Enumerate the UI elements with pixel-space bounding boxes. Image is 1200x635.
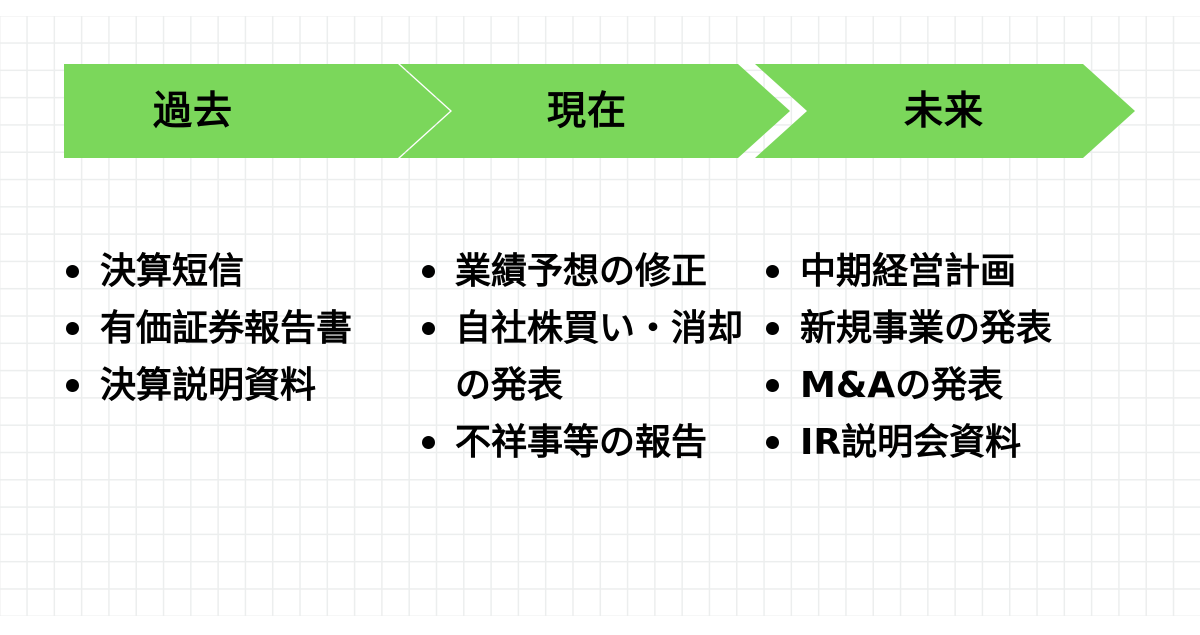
bullet-dot-icon <box>422 436 435 449</box>
list-item: IR説明会資料 <box>760 414 1120 471</box>
timeline-stage-future-label: 未来 <box>904 92 984 131</box>
list-item-label: IR説明会資料 <box>800 422 1021 463</box>
list-item-label: 業績予想の修正 <box>455 251 707 292</box>
timeline-chevron-row: 過去 現在 未来 <box>0 0 1200 230</box>
bullet-dot-icon <box>422 265 435 278</box>
column-past: 決算短信 有価証券報告書 決算説明資料 <box>60 243 412 414</box>
list-item: 業績予想の修正 <box>416 243 756 300</box>
timeline-stage-present-label: 現在 <box>547 92 627 131</box>
bullet-dot-icon <box>766 265 779 278</box>
list-item-label: M&Aの発表 <box>800 365 1003 406</box>
list-item-label: 新規事業の発表 <box>800 308 1052 349</box>
timeline-stage-past[interactable]: 過去 <box>64 64 450 158</box>
list-item: 中期経営計画 <box>760 243 1120 300</box>
bullet-dot-icon <box>766 322 779 335</box>
timeline-stage-past-label: 過去 <box>153 92 233 131</box>
list-item-label: 中期経営計画 <box>800 251 1016 292</box>
list-item: 有価証券報告書 <box>60 300 412 357</box>
list-item: 決算短信 <box>60 243 412 300</box>
bullet-dot-icon <box>66 265 79 278</box>
bullet-dot-icon <box>66 322 79 335</box>
list-item-label: 有価証券報告書 <box>100 308 352 349</box>
bullet-dot-icon <box>766 436 779 449</box>
list-item-label: 自社株買い・消却の発表 <box>455 308 743 406</box>
bullet-list-present: 業績予想の修正 自社株買い・消却の発表 不祥事等の報告 <box>416 243 756 471</box>
list-item: 不祥事等の報告 <box>416 414 756 471</box>
bullet-dot-icon <box>66 379 79 392</box>
list-item-label: 決算短信 <box>100 251 244 292</box>
column-future: 中期経営計画 新規事業の発表 M&Aの発表 IR説明会資料 <box>760 243 1120 471</box>
slide-canvas: 過去 現在 未来 決算短信 有価証券報告書 決算説明資料 <box>0 0 1200 635</box>
timeline-stage-future[interactable]: 未来 <box>755 64 1135 158</box>
list-item-label: 決算説明資料 <box>100 365 316 406</box>
bullet-dot-icon <box>422 322 435 335</box>
bullet-dot-icon <box>766 379 779 392</box>
disclosure-columns: 決算短信 有価証券報告書 決算説明資料 業績予想の修正 <box>0 243 1200 503</box>
list-item: 新規事業の発表 <box>760 300 1120 357</box>
bullet-list-past: 決算短信 有価証券報告書 決算説明資料 <box>60 243 412 414</box>
list-item: M&Aの発表 <box>760 357 1120 414</box>
list-item: 自社株買い・消却の発表 <box>416 300 756 414</box>
timeline-stage-present[interactable]: 現在 <box>400 64 790 158</box>
bullet-list-future: 中期経営計画 新規事業の発表 M&Aの発表 IR説明会資料 <box>760 243 1120 471</box>
list-item: 決算説明資料 <box>60 357 412 414</box>
list-item-label: 不祥事等の報告 <box>455 422 707 463</box>
column-present: 業績予想の修正 自社株買い・消却の発表 不祥事等の報告 <box>416 243 756 471</box>
